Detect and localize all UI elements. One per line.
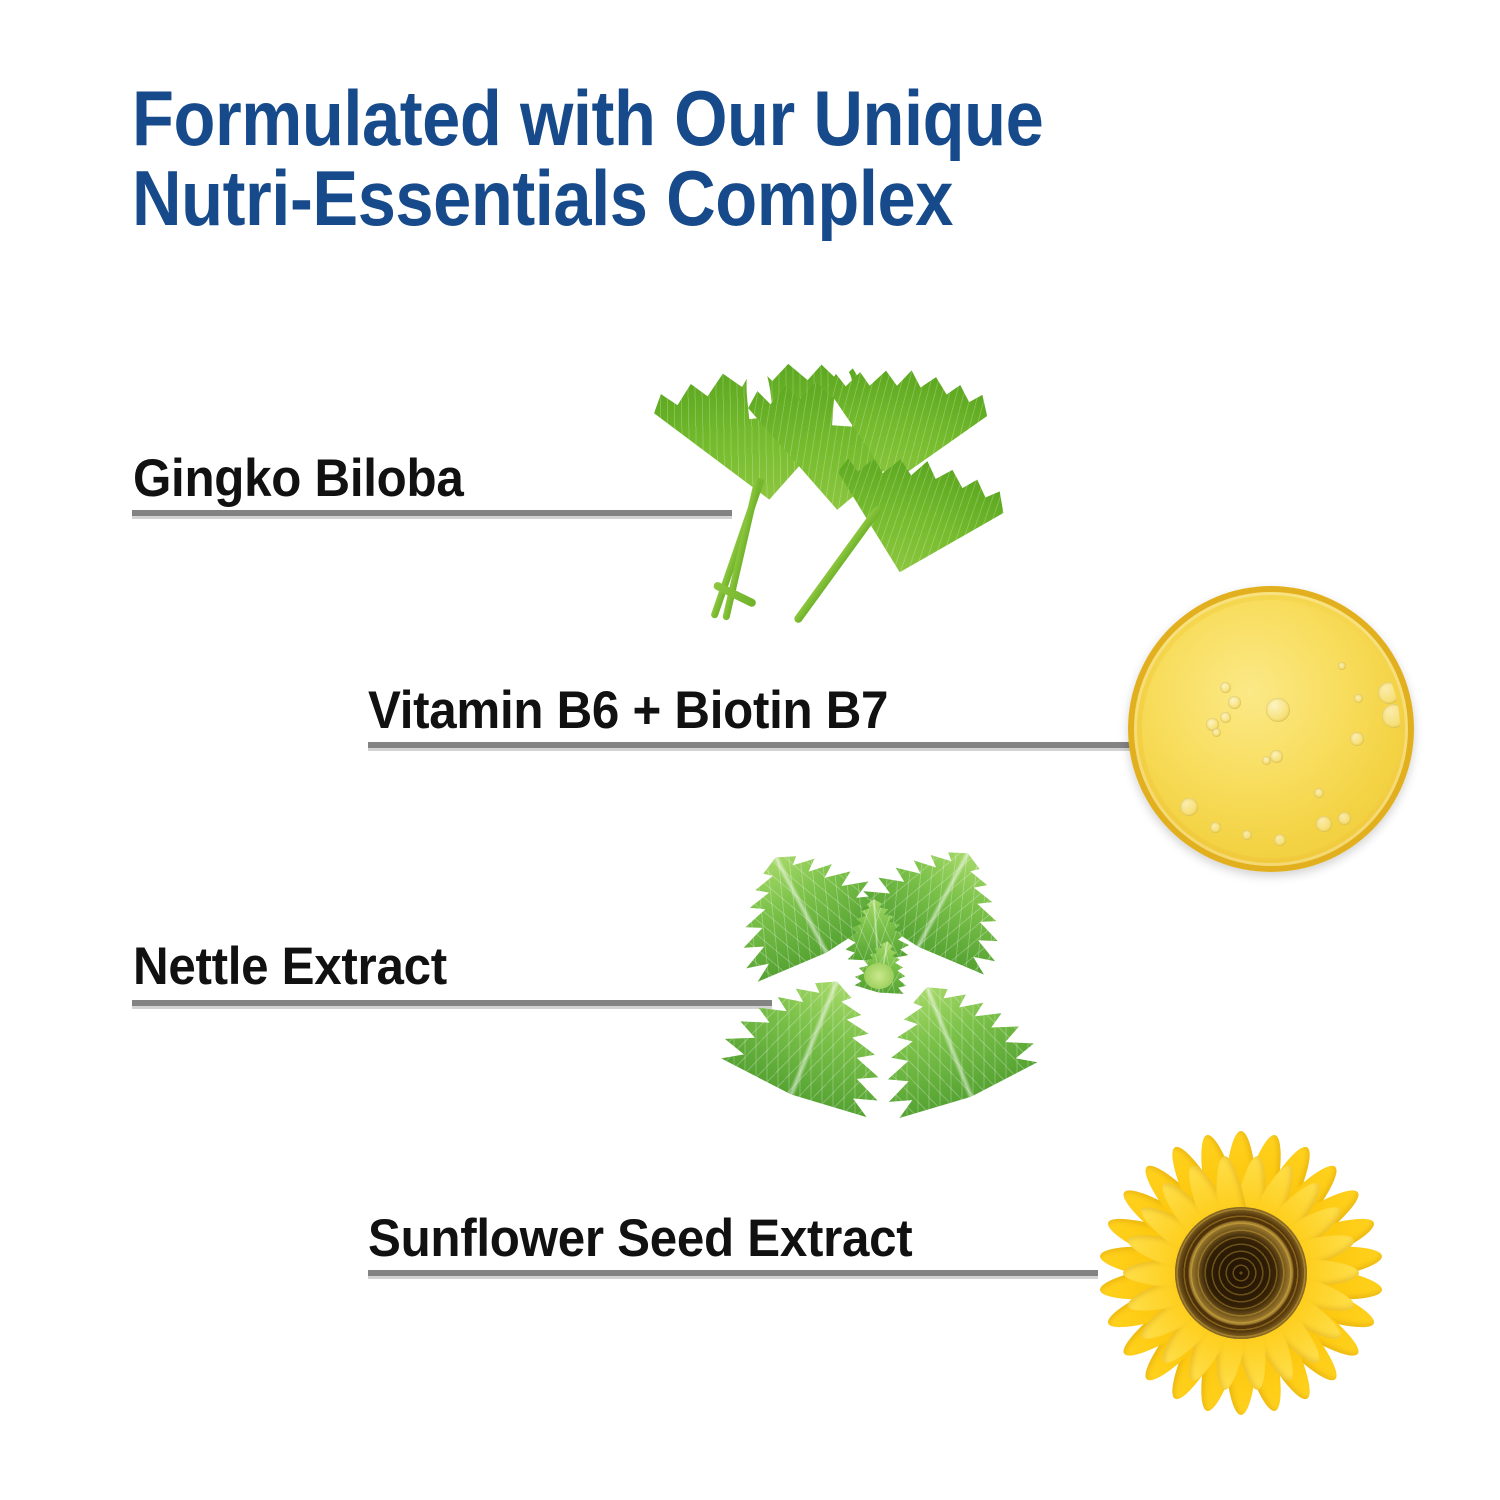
ingredient-label-sunflower: Sunflower Seed Extract xyxy=(368,1212,912,1265)
oil-bubble xyxy=(1270,750,1283,763)
oil-bubble xyxy=(1316,816,1332,832)
petri-dish-oil-surface xyxy=(1142,600,1400,858)
ginkgo-stem xyxy=(793,505,883,625)
ingredient-rule-nettle xyxy=(132,1000,772,1006)
oil-bubble xyxy=(1338,812,1351,825)
oil-bubble xyxy=(1350,732,1364,746)
oil-bubble xyxy=(1220,682,1231,693)
ingredient-label-nettle: Nettle Extract xyxy=(133,940,447,993)
oil-bubble xyxy=(1228,696,1241,709)
ingredient-rule-sunflower xyxy=(368,1270,1098,1276)
oil-bubble xyxy=(1212,728,1221,737)
ingredient-label-gingko: Gingko Biloba xyxy=(133,452,463,505)
oil-bubble xyxy=(1242,830,1252,840)
ingredient-rule-vitamin xyxy=(368,742,1130,748)
page-title: Formulated with Our Unique Nutri-Essenti… xyxy=(132,78,1170,239)
oil-bubble xyxy=(1314,788,1324,798)
oil-bubble xyxy=(1354,694,1363,703)
oil-bubble xyxy=(1338,662,1346,670)
nettle-leaves-image xyxy=(706,845,1036,1135)
oil-bubble xyxy=(1382,704,1400,728)
oil-bubble xyxy=(1220,712,1231,723)
infographic-canvas: Formulated with Our Unique Nutri-Essenti… xyxy=(0,0,1500,1500)
ginkgo-leaves-image xyxy=(650,352,980,637)
ingredient-label-vitamin: Vitamin B6 + Biotin B7 xyxy=(368,684,888,737)
oil-bubble xyxy=(1262,756,1271,765)
nettle-center xyxy=(864,963,894,989)
oil-bubble xyxy=(1266,698,1290,722)
sunflower-image xyxy=(1086,1118,1396,1428)
oil-bubble xyxy=(1274,834,1286,846)
petri-dish-oil-image xyxy=(1128,586,1414,872)
sunflower-seed-disc xyxy=(1175,1207,1307,1339)
oil-bubble xyxy=(1180,798,1198,816)
oil-bubble xyxy=(1210,822,1221,833)
oil-bubble xyxy=(1378,682,1400,704)
ingredient-rule-gingko xyxy=(132,510,732,516)
